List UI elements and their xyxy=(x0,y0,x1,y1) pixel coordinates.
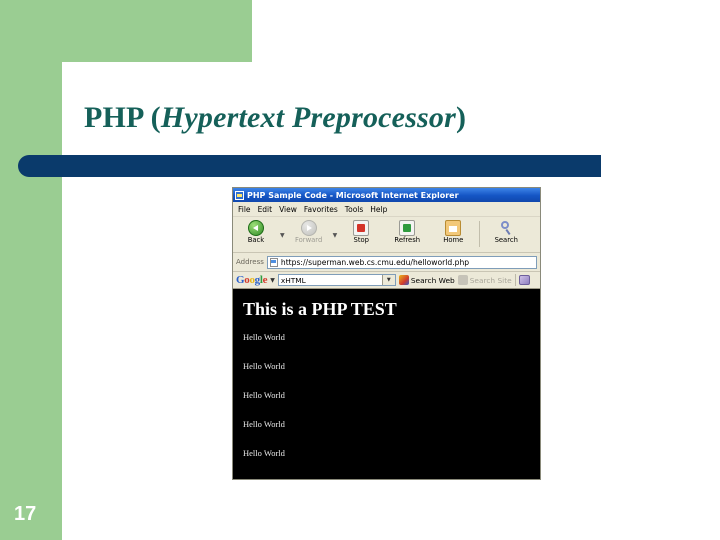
home-button-label: Home xyxy=(430,237,476,244)
page-title-suffix: ) xyxy=(456,101,466,134)
browser-address-bar: Address https://superman.web.cs.cmu.edu/… xyxy=(233,253,540,272)
search-web-button[interactable]: Search Web xyxy=(399,275,455,285)
menu-item-edit[interactable]: Edit xyxy=(258,205,273,214)
forward-button[interactable]: Forward xyxy=(286,219,332,244)
stop-button[interactable]: Stop xyxy=(338,219,384,244)
forward-button-label: Forward xyxy=(286,237,332,244)
search-site-label: Search Site xyxy=(470,276,512,285)
slide-number: 17 xyxy=(14,503,36,526)
forward-dropdown-icon[interactable]: ▼ xyxy=(333,232,338,239)
google-search-input[interactable]: xHTML ▼ xyxy=(278,274,396,286)
menu-item-view[interactable]: View xyxy=(279,205,297,214)
search-button[interactable]: Search xyxy=(483,219,529,244)
back-button-label: Back xyxy=(233,237,279,244)
stop-icon xyxy=(353,220,369,236)
browser-window-title: PHP Sample Code - Microsoft Internet Exp… xyxy=(247,191,459,200)
google-search-value: xHTML xyxy=(281,276,306,285)
search-site-button[interactable]: Search Site xyxy=(458,275,512,285)
address-input[interactable]: https://superman.web.cs.cmu.edu/hellowor… xyxy=(267,256,537,269)
green-left-strip xyxy=(0,0,62,540)
home-button[interactable]: Home xyxy=(430,219,476,244)
forward-arrow-icon xyxy=(301,220,317,236)
page-title-prefix: PHP ( xyxy=(84,101,161,134)
page-text-line: Hello World xyxy=(243,448,540,458)
refresh-icon xyxy=(399,220,415,236)
search-web-label: Search Web xyxy=(411,276,455,285)
page-heading: This is a PHP TEST xyxy=(243,299,540,320)
presentation-slide: PHP (Hypertext Preprocessor) 17 PHP Samp… xyxy=(0,0,720,540)
google-menu-chevron-down-icon[interactable]: ▼ xyxy=(270,277,275,284)
google-logo: Google xyxy=(236,274,267,286)
search-site-icon xyxy=(458,275,468,285)
page-text-line: Hello World xyxy=(243,390,540,400)
browser-menu-bar: File Edit View Favorites Tools Help xyxy=(233,202,540,217)
google-toolbar-separator xyxy=(515,274,516,286)
page-title: PHP (Hypertext Preprocessor) xyxy=(84,101,624,135)
page-text-line: Hello World xyxy=(243,361,540,371)
internet-explorer-icon xyxy=(235,191,244,200)
address-label: Address xyxy=(236,258,264,266)
address-url-text: https://superman.web.cs.cmu.edu/hellowor… xyxy=(281,258,469,267)
browser-window-screenshot: PHP Sample Code - Microsoft Internet Exp… xyxy=(232,187,541,480)
refresh-button[interactable]: Refresh xyxy=(384,219,430,244)
web-page-content: This is a PHP TEST Hello World Hello Wor… xyxy=(233,289,540,480)
search-icon xyxy=(498,220,514,236)
menu-item-tools[interactable]: Tools xyxy=(345,205,363,214)
stop-button-label: Stop xyxy=(338,237,384,244)
title-underline-bar xyxy=(18,155,601,177)
back-dropdown-icon[interactable]: ▼ xyxy=(280,232,285,239)
search-web-icon xyxy=(399,275,409,285)
browser-toolbar: Back ▼ Forward ▼ Stop Refresh Home xyxy=(233,217,540,253)
google-toolbar: Google ▼ xHTML ▼ Search Web Search Site xyxy=(233,272,540,289)
page-text-line: Hello World xyxy=(243,419,540,429)
browser-title-bar: PHP Sample Code - Microsoft Internet Exp… xyxy=(233,188,540,202)
search-button-label: Search xyxy=(483,237,529,244)
menu-item-help[interactable]: Help xyxy=(370,205,387,214)
back-button[interactable]: Back xyxy=(233,219,279,244)
menu-item-file[interactable]: File xyxy=(238,205,251,214)
google-search-chevron-down-icon[interactable]: ▼ xyxy=(382,275,395,285)
page-icon xyxy=(270,258,278,267)
back-arrow-icon xyxy=(248,220,264,236)
refresh-button-label: Refresh xyxy=(384,237,430,244)
page-title-emphasis: Hypertext Preprocessor xyxy=(161,101,456,134)
home-icon xyxy=(445,220,461,236)
google-toolbar-extra-icon[interactable] xyxy=(519,275,530,285)
toolbar-separator xyxy=(479,221,480,247)
menu-item-favorites[interactable]: Favorites xyxy=(304,205,338,214)
page-text-line: Hello World xyxy=(243,332,540,342)
